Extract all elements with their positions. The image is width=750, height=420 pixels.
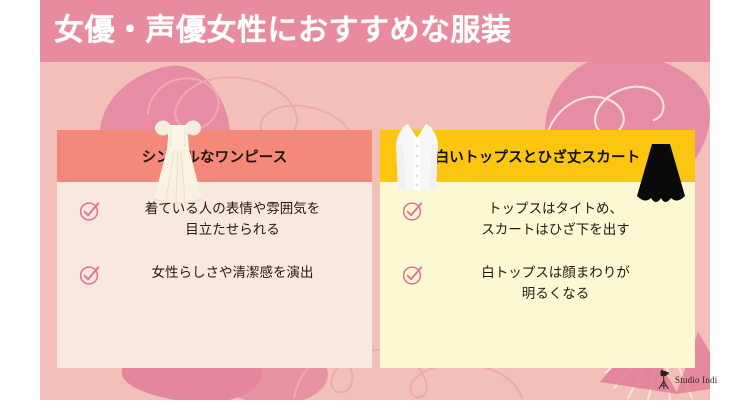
list-item-text: 白トップスは顔まわりが 明るくなる bbox=[434, 262, 677, 304]
card-header-label-right: 白いトップスとひざ丈スカート bbox=[435, 146, 641, 167]
check-circle-icon bbox=[402, 264, 424, 286]
check-circle-icon bbox=[79, 200, 101, 222]
title-bar: 女優・声優女性におすすめな服装 bbox=[40, 0, 710, 62]
slide-root: 女優・声優女性におすすめな服装 シンプルなワンピース 着ている人の表情や雰囲気を… bbox=[0, 0, 750, 420]
card-header-right: 白いトップスとひざ丈スカート bbox=[380, 130, 695, 182]
list-item: 白トップスは顔まわりが 明るくなる bbox=[380, 262, 695, 304]
page-title: 女優・声優女性におすすめな服装 bbox=[54, 10, 512, 52]
list-item-text: 着ている人の表情や雰囲気を 目立たせられる bbox=[111, 198, 354, 240]
bullet-list-left: 着ている人の表情や雰囲気を 目立たせられる 女性らしさや清潔感を演出 bbox=[57, 198, 372, 286]
check-circle-icon bbox=[402, 200, 424, 222]
check-circle-icon bbox=[79, 264, 101, 286]
tripod-camera-icon bbox=[657, 370, 671, 390]
logo-text: Studio Indi bbox=[675, 375, 717, 385]
card-body-right: トップスはタイトめ、 スカートはひざ下を出す 白トップスは顔まわりが 明るくなる bbox=[380, 182, 695, 368]
card-header-label-left: シンプルなワンピース bbox=[142, 146, 288, 167]
bullet-list-right: トップスはタイトめ、 スカートはひざ下を出す 白トップスは顔まわりが 明るくなる bbox=[380, 198, 695, 304]
card-white-tops-knee-skirt: 白いトップスとひざ丈スカート トップスはタイトめ、 スカートはひざ下を出す bbox=[380, 130, 695, 368]
list-item: 女性らしさや清潔感を演出 bbox=[57, 262, 372, 286]
list-item: トップスはタイトめ、 スカートはひざ下を出す bbox=[380, 198, 695, 240]
list-item-text: 女性らしさや清潔感を演出 bbox=[111, 262, 354, 283]
card-simple-onepiece: シンプルなワンピース 着ている人の表情や雰囲気を 目立たせられる bbox=[57, 130, 372, 368]
card-header-left: シンプルなワンピース bbox=[57, 130, 372, 182]
list-item: 着ている人の表情や雰囲気を 目立たせられる bbox=[57, 198, 372, 240]
studio-logo: Studio Indi bbox=[657, 370, 717, 390]
card-body-left: 着ている人の表情や雰囲気を 目立たせられる 女性らしさや清潔感を演出 bbox=[57, 182, 372, 368]
list-item-text: トップスはタイトめ、 スカートはひざ下を出す bbox=[434, 198, 677, 240]
